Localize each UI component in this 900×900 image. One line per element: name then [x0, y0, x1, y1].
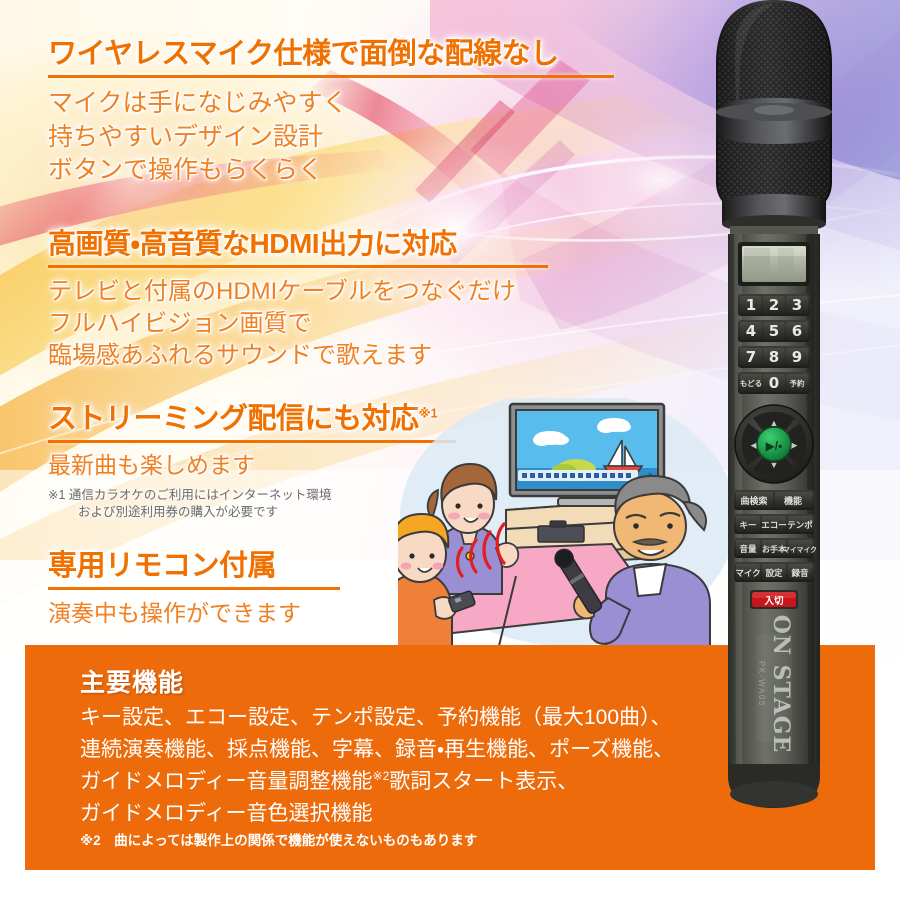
feature-block-remote: 専用リモコン付属 演奏中も操作ができます: [48, 542, 340, 629]
feature-block-hdmi: 高画質・高音質なHDMI出力に対応 テレビと付属のHDMIケーブルをつなぐだけ …: [48, 222, 548, 372]
feature-lines: マイクは手になじみやすく 持ちやすいデザイン設計 ボタンで操作もらくらく: [48, 87, 614, 188]
button-label-my-mic: マイマイク: [783, 545, 817, 554]
illustration-svg: ♪: [398, 398, 728, 650]
feature-heading: ワイヤレスマイク仕様で面倒な配線なし: [48, 30, 559, 74]
feature-notes: ※1 通信カラオケのご利用にはインターネット環境 および別途利用券の購入が必要で…: [48, 487, 456, 522]
advertisement-page: ワイヤレスマイク仕様で面倒な配線なし マイクは手になじみやすく 持ちやすいデザイ…: [0, 0, 900, 900]
feature-line: テレビと付属のHDMIケーブルをつなぐだけ: [48, 276, 548, 308]
button-label-function: 機能: [784, 495, 802, 507]
feature-line: 演奏中も操作ができます: [48, 598, 340, 629]
feature-line: 最新曲も楽しめます: [48, 450, 456, 481]
button-label-song-search: 曲検索: [740, 495, 767, 507]
panel-feature-line: キー設定、エコー設定、テンポ設定、予約機能（最大100曲）、: [80, 702, 674, 734]
mic-grille-head: [716, 0, 832, 218]
keypad-label-back: もどる: [740, 378, 762, 388]
keypad-label-2: 2: [769, 296, 779, 314]
feature-block-wireless: ワイヤレスマイク仕様で面倒な配線なし マイクは手になじみやすく 持ちやすいデザイ…: [48, 30, 614, 188]
keypad-label-9: 9: [792, 348, 802, 366]
button-label-echo: エコー: [761, 521, 787, 531]
panel-feature-line: 連続演奏機能、採点機能、字幕、録音・再生機能、ポーズ機能、: [80, 734, 674, 766]
keypad-label-3: 3: [792, 296, 802, 314]
dpad-play-stop-icon: ▶/▪: [766, 439, 783, 453]
mic-dpad: ▲ ▼ ◀ ▶ ▶/▪: [735, 405, 813, 483]
panel-footnote: ※2 曲によっては製作上の関係で機能が使えないものもあります: [80, 829, 477, 849]
family-karaoke-illustration: ♪: [398, 398, 728, 650]
feature-heading-text: ストリーミング配信にも対応: [48, 403, 419, 435]
button-label-key: キー: [739, 521, 756, 531]
feature-block-streaming: ストリーミング配信にも対応※1 最新曲も楽しめます ※1 通信カラオケのご利用に…: [48, 395, 456, 521]
panel-feature-text: 歌詞スタート表示、: [389, 770, 578, 793]
heading-underline: [48, 265, 548, 268]
heading-underline: [48, 75, 614, 78]
karaoke-microphone: 1 2 3 4 5 6 7 8 9: [694, 0, 874, 870]
feature-line: 臨場感あふれるサウンドで歌えます: [48, 340, 548, 372]
mic-power-button: 入切: [750, 590, 798, 609]
keypad-label-0: 0: [769, 374, 779, 392]
mic-lcd-display: [738, 242, 810, 286]
feature-note: ※1 通信カラオケのご利用にはインターネット環境: [48, 487, 456, 504]
heading-underline: [48, 587, 340, 590]
button-label-tempo: テンポ: [787, 520, 813, 531]
feature-lines: 最新曲も楽しめます: [48, 450, 456, 481]
panel-title: 主要機能: [80, 663, 184, 699]
button-label-mic: マイク: [735, 568, 760, 579]
feature-lines: 演奏中も操作ができます: [48, 598, 340, 629]
button-label-volume: 音量: [739, 544, 757, 555]
feature-line: ボタンで操作もらくらく: [48, 154, 614, 188]
button-label-settings: 設定: [765, 568, 783, 579]
keypad-label-reserve: 予約: [790, 378, 805, 388]
panel-feature-line: ガイドメロディー音量調整機能※2歌詞スタート表示、: [80, 766, 674, 798]
keypad-label-4: 4: [746, 322, 756, 340]
feature-lines: テレビと付属のHDMIケーブルをつなぐだけ フルハイビジョン画質で 臨場感あふれ…: [48, 276, 548, 372]
feature-heading: ストリーミング配信にも対応※1: [48, 395, 438, 439]
feature-line: フルハイビジョン画質で: [48, 308, 548, 340]
feature-heading: 高画質・高音質なHDMI出力に対応: [48, 222, 457, 264]
panel-feature-text: ガイドメロディー音量調整機能: [80, 770, 373, 793]
footnote-marker: ※2: [373, 769, 390, 783]
feature-heading: 専用リモコン付属: [48, 542, 276, 586]
heading-underline: [48, 440, 456, 443]
keypad-label-1: 1: [746, 296, 756, 314]
power-button-label: 入切: [763, 596, 784, 607]
panel-feature-line: ガイドメロディー音色選択機能: [80, 798, 674, 830]
feature-line: マイクは手になじみやすく: [48, 87, 614, 121]
button-label-record: 録音: [790, 568, 809, 579]
keypad-label-7: 7: [746, 348, 756, 366]
feature-line: 持ちやすいデザイン設計: [48, 121, 614, 155]
microphone-svg: 1 2 3 4 5 6 7 8 9: [694, 0, 874, 870]
panel-feature-list: キー設定、エコー設定、テンポ設定、予約機能（最大100曲）、 連続演奏機能、採点…: [80, 702, 674, 830]
feature-note: および別途利用券の購入が必要です: [48, 504, 456, 521]
keypad-label-5: 5: [769, 322, 779, 340]
keypad-label-8: 8: [769, 348, 779, 366]
keypad-label-6: 6: [792, 322, 802, 340]
